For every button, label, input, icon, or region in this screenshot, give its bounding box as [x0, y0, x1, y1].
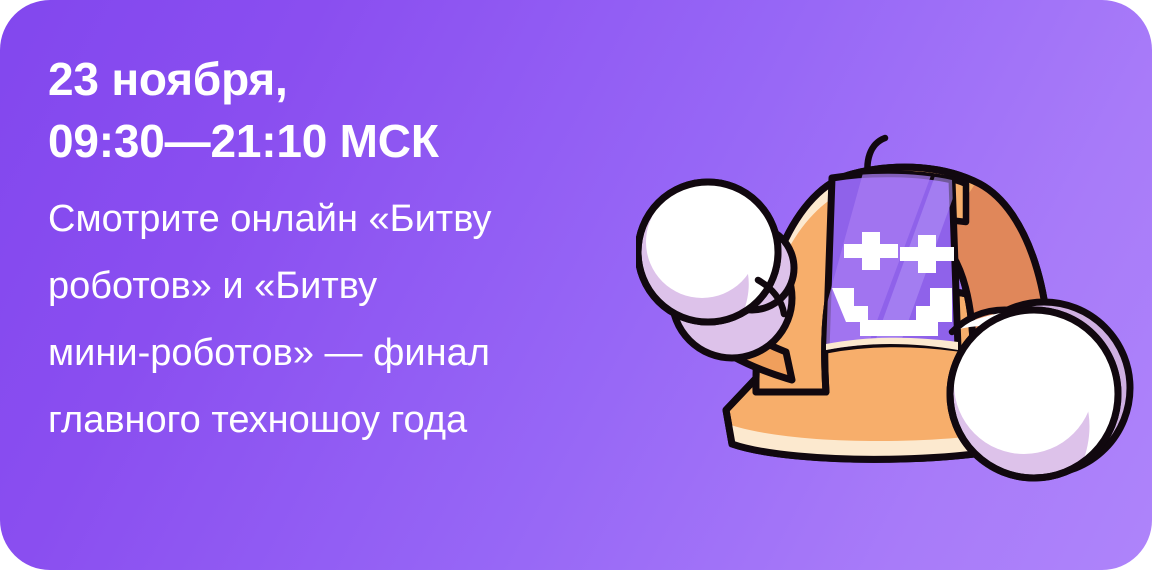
robot-screen: [808, 162, 966, 372]
page-title: 23 ноября, 09:30—21:10 МСК: [48, 48, 668, 172]
text-block: 23 ноября, 09:30—21:10 МСК Смотрите онла…: [48, 48, 668, 454]
banner-description: Смотрите онлайн «Битву роботов» и «Битву…: [48, 186, 668, 454]
robot-illustration: [636, 92, 1152, 492]
promo-banner: 23 ноября, 09:30—21:10 МСК Смотрите онла…: [0, 0, 1152, 570]
right-fist-group: [950, 302, 1130, 479]
left-arm-group: [638, 182, 794, 380]
